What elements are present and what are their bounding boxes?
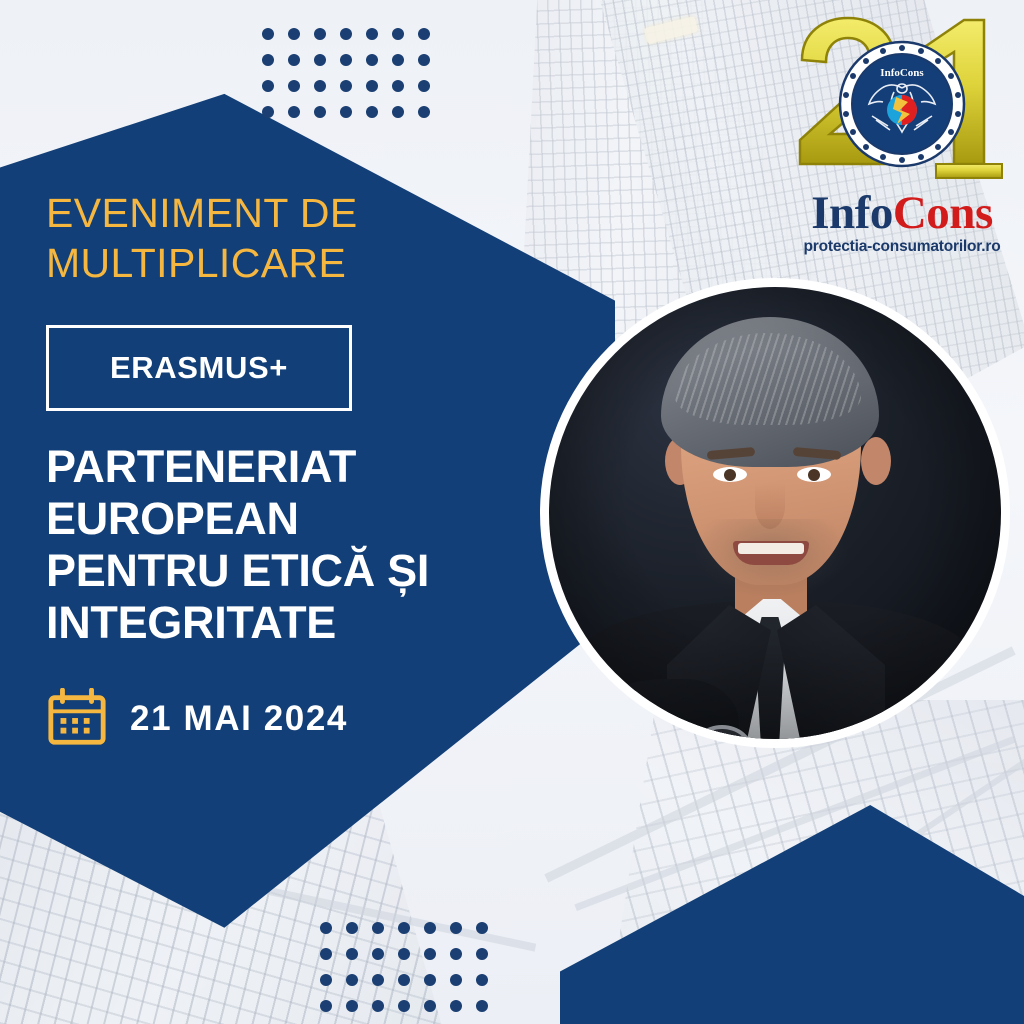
dot bbox=[392, 106, 404, 118]
dot bbox=[346, 1000, 358, 1012]
dot bbox=[346, 948, 358, 960]
dot bbox=[340, 54, 352, 66]
dot bbox=[476, 922, 488, 934]
poster-text-block: EVENIMENT DE MULTIPLICARE ERASMUS+ PARTE… bbox=[46, 188, 516, 750]
event-date: 21 MAI 2024 bbox=[130, 699, 348, 739]
romanian-tricolor-icon bbox=[887, 95, 917, 125]
dot bbox=[372, 948, 384, 960]
dot bbox=[372, 974, 384, 986]
dot bbox=[288, 106, 300, 118]
dot bbox=[288, 80, 300, 92]
dot bbox=[424, 1000, 436, 1012]
hand bbox=[561, 685, 647, 739]
dot bbox=[262, 28, 274, 40]
dot bbox=[288, 28, 300, 40]
dot bbox=[418, 54, 430, 66]
dot bbox=[366, 80, 378, 92]
dot bbox=[424, 974, 436, 986]
dot bbox=[476, 974, 488, 986]
dot bbox=[392, 80, 404, 92]
dot bbox=[366, 106, 378, 118]
event-poster: EVENIMENT DE MULTIPLICARE ERASMUS+ PARTE… bbox=[0, 0, 1024, 1024]
dot bbox=[398, 974, 410, 986]
speaker-portrait bbox=[549, 287, 1001, 739]
program-badge: ERASMUS+ bbox=[46, 325, 352, 411]
dot bbox=[398, 922, 410, 934]
dot bbox=[476, 948, 488, 960]
dot bbox=[346, 974, 358, 986]
dot bbox=[398, 1000, 410, 1012]
dot bbox=[320, 1000, 332, 1012]
infocons-logo[interactable]: InfoCons InfoCons protectia-consumatoril… bbox=[786, 12, 1018, 260]
dot bbox=[314, 80, 326, 92]
dot-grid-top bbox=[262, 28, 444, 132]
calendar-icon bbox=[46, 688, 108, 750]
dot bbox=[314, 54, 326, 66]
dot bbox=[314, 28, 326, 40]
dot bbox=[392, 28, 404, 40]
seal-label: InfoCons bbox=[880, 67, 924, 79]
dot bbox=[450, 922, 462, 934]
dot bbox=[262, 54, 274, 66]
dot-grid-bottom bbox=[320, 922, 502, 1024]
portrait-vignette bbox=[549, 287, 1001, 739]
dot bbox=[346, 922, 358, 934]
infocons-wordmark: InfoCons bbox=[786, 190, 1018, 237]
dot bbox=[320, 974, 332, 986]
dot bbox=[320, 922, 332, 934]
wordmark-cons: Cons bbox=[893, 187, 993, 239]
dot bbox=[262, 80, 274, 92]
wordmark-info: Info bbox=[811, 187, 893, 239]
dot bbox=[340, 28, 352, 40]
dot bbox=[418, 106, 430, 118]
dot bbox=[288, 54, 300, 66]
dot bbox=[340, 80, 352, 92]
dot bbox=[314, 106, 326, 118]
dot bbox=[392, 54, 404, 66]
infocons-seal-icon: InfoCons bbox=[838, 40, 966, 168]
dot bbox=[450, 974, 462, 986]
dot bbox=[398, 948, 410, 960]
dot bbox=[450, 948, 462, 960]
dot bbox=[320, 948, 332, 960]
dot bbox=[424, 922, 436, 934]
dot bbox=[372, 1000, 384, 1012]
infocons-tagline: protectia-consumatorilor.ro bbox=[786, 238, 1018, 256]
dot bbox=[366, 28, 378, 40]
speaker-portrait-frame bbox=[540, 278, 1010, 748]
dot bbox=[340, 106, 352, 118]
event-kicker: EVENIMENT DE MULTIPLICARE bbox=[46, 188, 516, 289]
dot bbox=[418, 80, 430, 92]
dot bbox=[366, 54, 378, 66]
event-date-row: 21 MAI 2024 bbox=[46, 688, 516, 750]
program-badge-label: ERASMUS+ bbox=[110, 350, 288, 386]
dot bbox=[418, 28, 430, 40]
dot bbox=[476, 1000, 488, 1012]
dot bbox=[262, 106, 274, 118]
dot bbox=[450, 1000, 462, 1012]
dot bbox=[372, 922, 384, 934]
dot bbox=[424, 948, 436, 960]
page-title: PARTENERIAT EUROPEAN PENTRU ETICĂ ȘI INT… bbox=[46, 441, 516, 650]
